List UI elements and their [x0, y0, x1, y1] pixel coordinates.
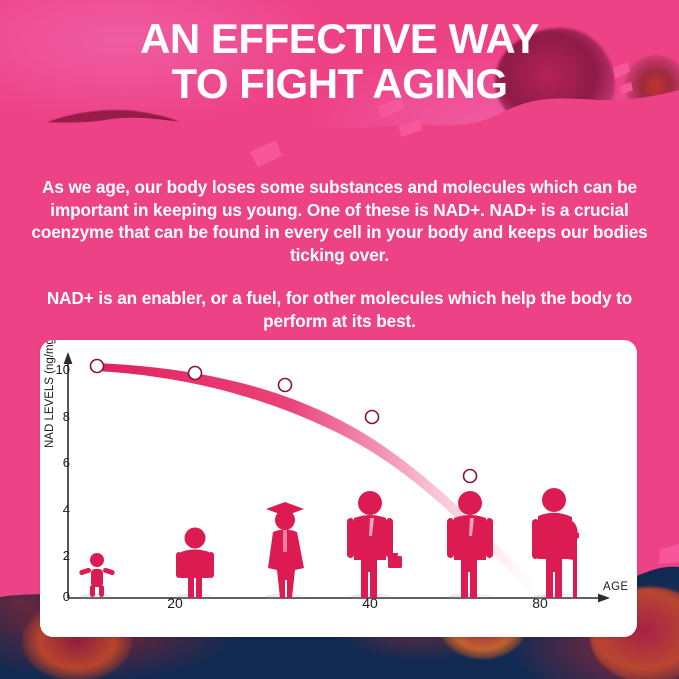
- chart-card: NAD LEVELS (ng/mg protein) 10 8 6 4 2 0 …: [40, 340, 637, 637]
- headline-line-1: AN EFFECTIVE WAY: [140, 15, 539, 62]
- figure-child: [176, 528, 214, 601]
- page-title: AN EFFECTIVE WAY TO FIGHT AGING: [0, 16, 679, 107]
- data-point-1: [91, 360, 104, 373]
- figure-working-adult: [347, 491, 402, 601]
- poster: AN EFFECTIVE WAY TO FIGHT AGING As we ag…: [0, 0, 679, 679]
- headline-line-2: TO FIGHT AGING: [0, 61, 679, 106]
- data-point-markers: [91, 360, 477, 483]
- data-point-5: [464, 470, 477, 483]
- chart-plot-area: [40, 340, 637, 637]
- paragraph-1: As we age, our body loses some substance…: [28, 176, 651, 267]
- data-point-3: [279, 379, 292, 392]
- figure-graduate: [265, 502, 305, 601]
- paragraph-2: NAD+ is an enabler, or a fuel, for other…: [28, 287, 651, 332]
- data-point-4: [366, 411, 379, 424]
- nad-decline-band: [96, 363, 560, 602]
- data-point-2: [189, 367, 202, 380]
- axis-lines: [64, 352, 610, 602]
- figure-baby: [79, 553, 116, 601]
- body-copy: As we age, our body loses some substance…: [28, 176, 651, 332]
- figure-elderly-with-cane: [532, 488, 582, 601]
